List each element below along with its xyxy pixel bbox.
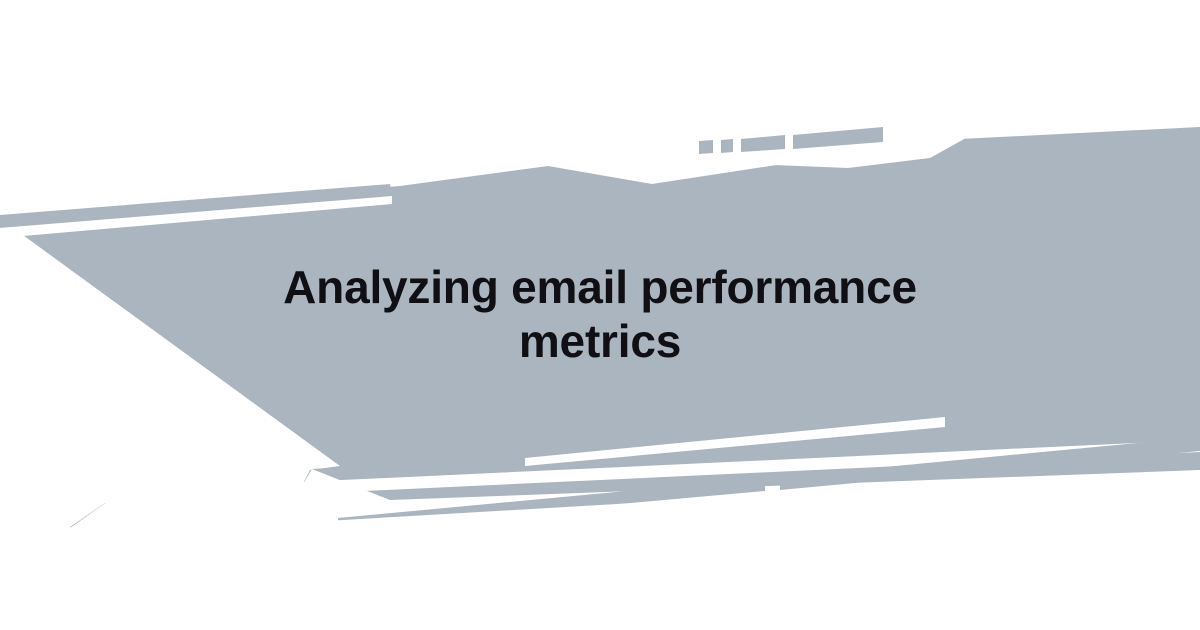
banner-artwork — [0, 0, 1200, 630]
top-dash-1 — [699, 140, 713, 154]
banner-card: Analyzing email performance metrics — [0, 0, 1200, 630]
top-dash-2 — [721, 139, 733, 153]
top-dash-3 — [741, 135, 785, 152]
